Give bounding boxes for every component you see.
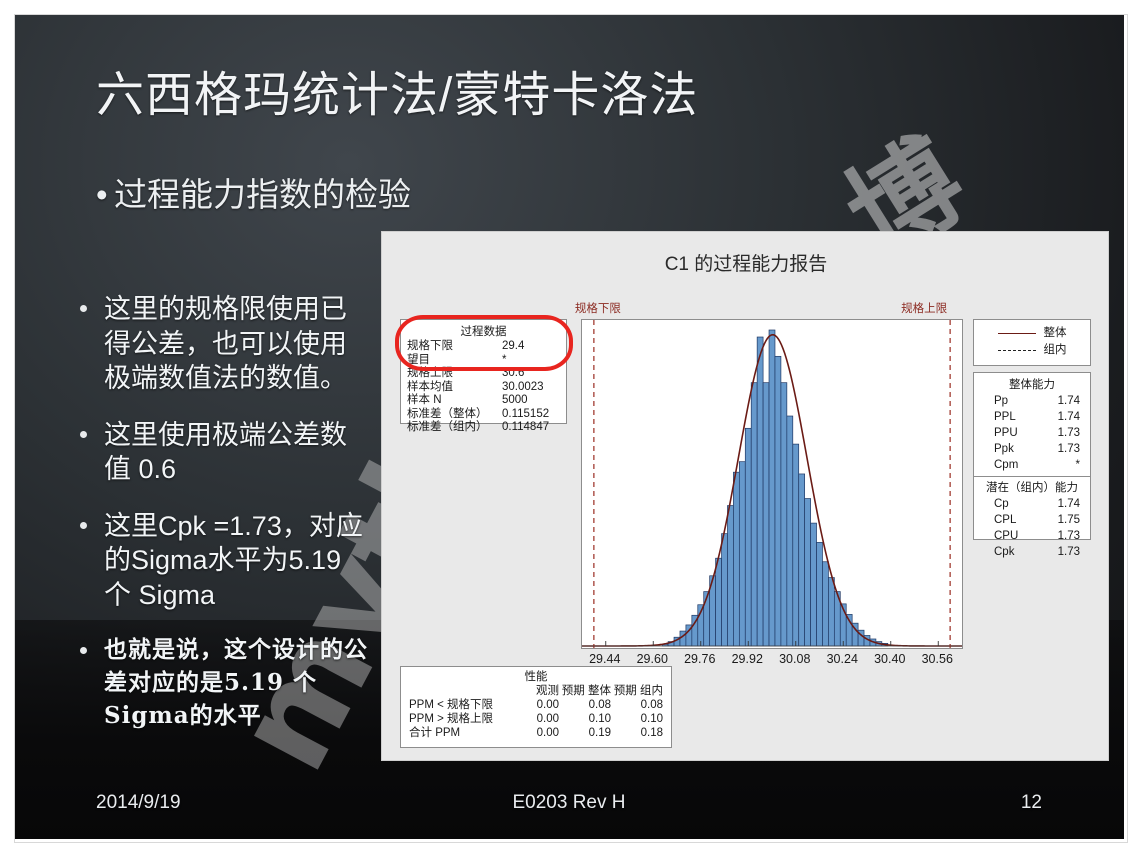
presentation-slide: 博 mytb 六西格玛统计法/蒙特卡洛法 •过程能力指数的检验 这里的规格限使用… [0,0,1138,853]
slide-border [0,0,1138,853]
